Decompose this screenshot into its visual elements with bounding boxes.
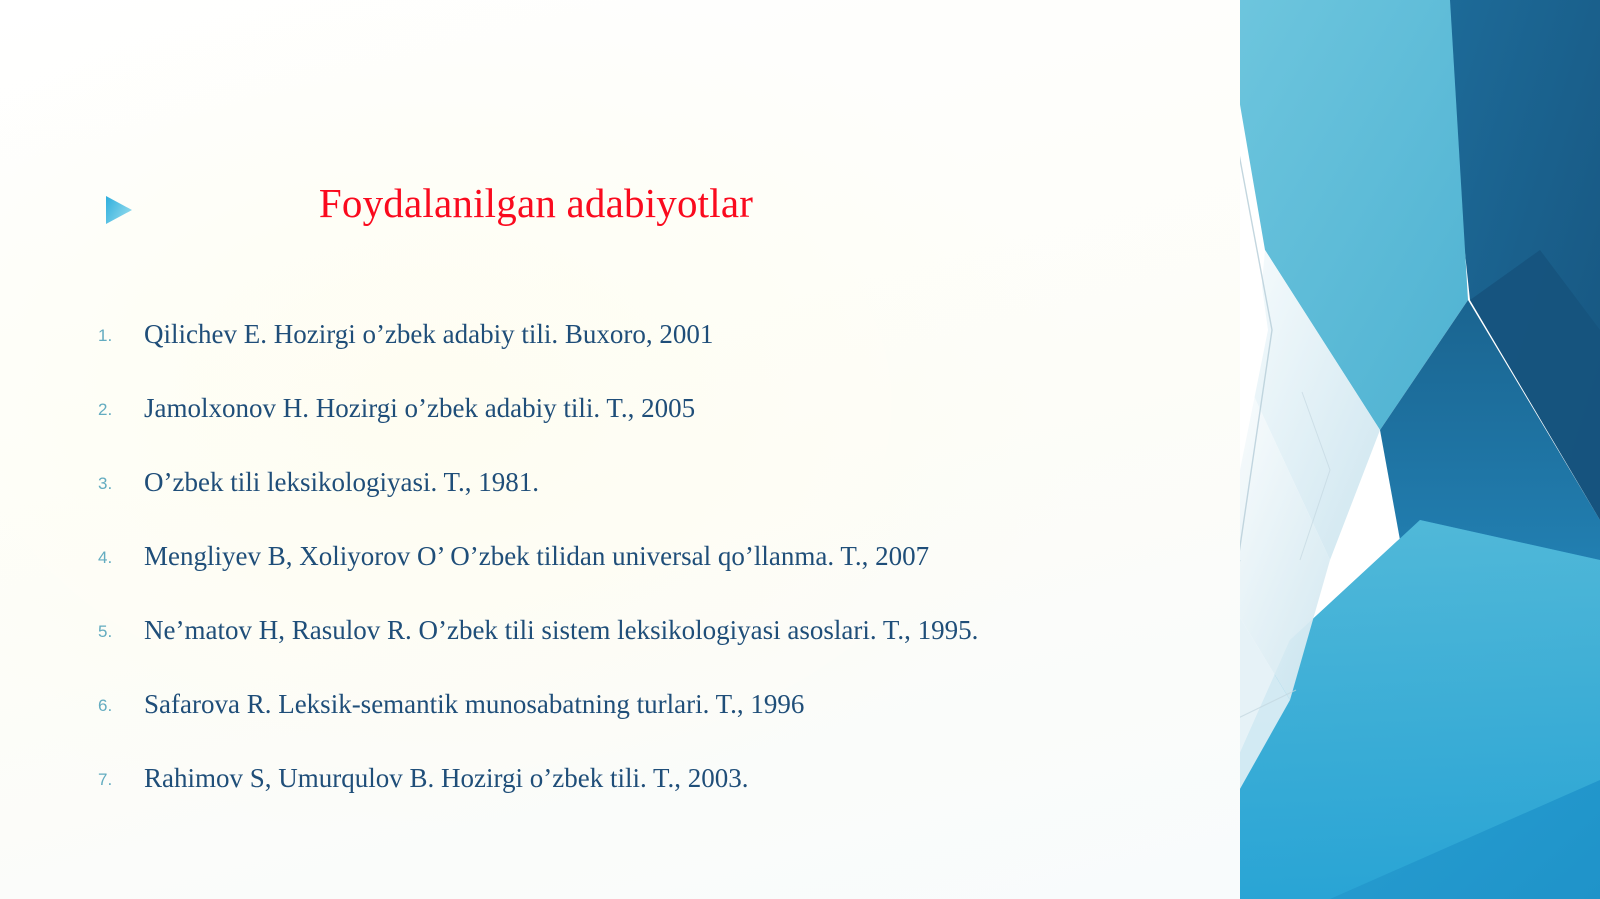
list-item-label: O’zbek tili leksikologiyasi. T., 1981. — [144, 467, 539, 497]
list-item-number: 7. — [98, 770, 124, 791]
reference-list: 1. Qilichev E. Hozirgi o’zbek adabiy til… — [96, 318, 1206, 795]
facet-shape-pale-triangle — [1205, 392, 1330, 700]
facet-shape-bright-center — [1380, 300, 1600, 640]
list-item: 2. Jamolxonov H. Hozirgi o’zbek adabiy t… — [96, 392, 1206, 425]
facet-shape-deep-right — [1438, 0, 1600, 520]
list-item-label: Mengliyev B, Xoliyorov O’ O’zbek tilidan… — [144, 541, 929, 571]
facet-shape-lower-right-overlay — [1175, 520, 1600, 899]
list-item-number: 6. — [98, 696, 124, 717]
list-item-label: Qilichev E. Hozirgi o’zbek adabiy tili. … — [144, 319, 713, 349]
facet-shape-pale-wedge — [1252, 250, 1380, 560]
facet-shape-left-edge — [0, 672, 58, 899]
hairline-top-right — [1300, 392, 1330, 560]
list-item-number: 3. — [98, 474, 124, 495]
list-item-label: Jamolxonov H. Hozirgi o’zbek adabiy tili… — [144, 393, 695, 423]
facet-shape-navy-spike — [1470, 250, 1600, 520]
list-item: 6. Safarova R. Leksik-semantik munosabat… — [96, 688, 1206, 721]
list-item: 4. Mengliyev B, Xoliyorov O’ O’zbek tili… — [96, 540, 1206, 573]
list-item: 3. O’zbek tili leksikologiyasi. T., 1981… — [96, 466, 1206, 499]
list-item-label: Rahimov S, Umurqulov B. Hozirgi o’zbek t… — [144, 763, 748, 793]
list-item-number: 2. — [98, 400, 124, 421]
list-item-number: 5. — [98, 622, 124, 643]
hairline-upper — [1212, 10, 1272, 560]
list-item-label: Safarova R. Leksik-semantik munosabatnin… — [144, 689, 804, 719]
list-item-label: Ne’matov H, Rasulov R. O’zbek tili siste… — [144, 615, 978, 645]
page-title: Foydalanilgan adabiyotlar — [96, 178, 976, 229]
list-item: 5. Ne’matov H, Rasulov R. O’zbek tili si… — [96, 614, 1206, 647]
list-item-number: 1. — [98, 326, 124, 347]
facet-shape-cyan-band — [1222, 0, 1468, 430]
list-item: 7. Rahimov S, Umurqulov B. Hozirgi o’zbe… — [96, 762, 1206, 795]
title-block: Foydalanilgan adabiyotlar — [96, 178, 1216, 252]
list-item-number: 4. — [98, 548, 124, 569]
presentation-slide: Foydalanilgan adabiyotlar 1. Qilichev E.… — [0, 0, 1600, 899]
facet-shape-lower-right-field — [1175, 520, 1600, 899]
list-item: 1. Qilichev E. Hozirgi o’zbek adabiy til… — [96, 318, 1206, 351]
